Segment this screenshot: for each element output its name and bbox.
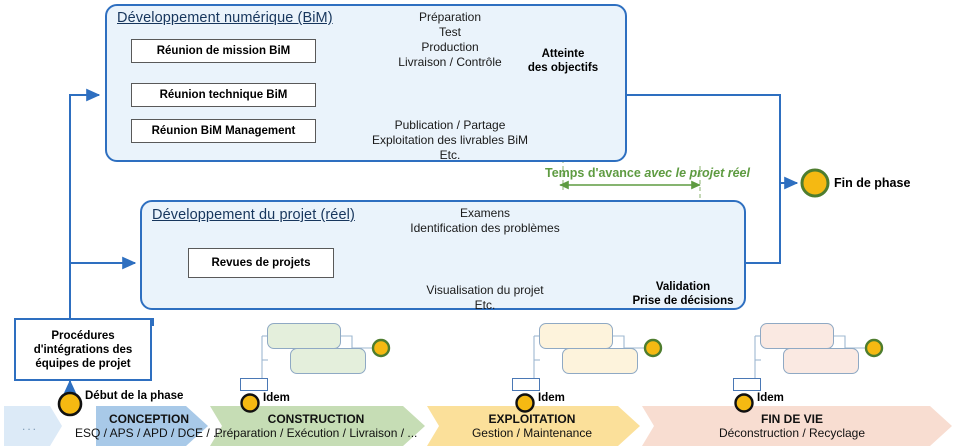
timeline-phase-3-subtitle: Gestion / Maintenance bbox=[472, 426, 592, 440]
timeline-phase-fin-de-vie[interactable]: FIN DE VIE Déconstruction / Recyclage bbox=[648, 406, 936, 446]
digital-above-line-1: Préparation bbox=[360, 10, 540, 25]
mini-2-start-box bbox=[512, 378, 540, 391]
real-below-line-1: Visualisation du projet bbox=[385, 283, 585, 298]
mini-3-box-top bbox=[760, 323, 834, 349]
timeline-phase-0-dots: ... bbox=[22, 419, 38, 433]
timeline-phase-3-title: EXPLOITATION bbox=[489, 412, 576, 426]
timeline-marker-label-1: Idem bbox=[263, 392, 290, 404]
real-below-text: Visualisation du projet Etc. bbox=[385, 283, 585, 313]
timeline-phase-0[interactable]: ... bbox=[4, 406, 56, 446]
procedures-line-2: d'intégrations des bbox=[34, 343, 133, 357]
timeline-phase-2-title: CONSTRUCTION bbox=[268, 412, 365, 426]
panel-digital-title: Développement numérique (BiM) bbox=[117, 10, 333, 26]
real-above-text: Examens Identification des problèmes bbox=[385, 206, 585, 236]
mini-2-box-top bbox=[539, 323, 613, 349]
advance-line-1: Temps d'avance bbox=[545, 166, 641, 180]
procedures-line-3: équipes de projet bbox=[34, 357, 133, 371]
digital-above-line-2: Test bbox=[360, 25, 540, 40]
fin-de-phase-label: Fin de phase bbox=[834, 176, 910, 190]
digital-below-line-1: Publication / Partage bbox=[360, 118, 540, 133]
project-review-box[interactable]: Revues de projets bbox=[188, 248, 334, 278]
panel-real-title: Développement du projet (réel) bbox=[152, 207, 355, 223]
digital-below-text: Publication / Partage Exploitation des l… bbox=[360, 118, 540, 163]
timeline-marker-label-2: Idem bbox=[538, 392, 565, 404]
digital-end-node-label: Atteinte des objectifs bbox=[513, 48, 613, 75]
mini-1-box-bottom bbox=[290, 348, 366, 374]
timeline-phase-1-title: CONCEPTION bbox=[109, 412, 189, 426]
advance-line-2: avec le projet réel bbox=[644, 166, 750, 180]
procedures-line-1: Procédures bbox=[34, 329, 133, 343]
real-above-line-2: Identification des problèmes bbox=[385, 221, 585, 236]
digital-below-line-2: Exploitation des livrables BiM bbox=[360, 133, 540, 148]
mini-1-start-box bbox=[240, 378, 268, 391]
mini-1-box-top bbox=[267, 323, 341, 349]
digital-below-line-3: Etc. bbox=[360, 148, 540, 163]
real-end-label-line-2: Prise de décisions bbox=[620, 295, 746, 309]
timeline-marker-label-3: Idem bbox=[757, 392, 784, 404]
timeline-phase-construction[interactable]: CONSTRUCTION Préparation / Exécution / L… bbox=[216, 406, 416, 446]
mini-3-start-box bbox=[733, 378, 761, 391]
timeline-phase-1-subtitle: ESQ / APS / APD / DCE / ... bbox=[75, 426, 223, 440]
meeting-box-mission[interactable]: Réunion de mission BiM bbox=[131, 39, 316, 63]
digital-end-label-line-1: Atteinte bbox=[513, 48, 613, 62]
digital-end-label-line-2: des objectifs bbox=[513, 62, 613, 76]
timeline-phase-2-subtitle: Préparation / Exécution / Livraison / ..… bbox=[215, 426, 418, 440]
timeline-phase-conception[interactable]: CONCEPTION ESQ / APS / APD / DCE / ... bbox=[96, 406, 202, 446]
advance-annotation: Temps d'avance avec le projet réel bbox=[545, 166, 715, 181]
real-above-line-1: Examens bbox=[385, 206, 585, 221]
diagram-canvas: Développement numérique (BiM) Réunion de… bbox=[0, 0, 960, 447]
meeting-box-technique[interactable]: Réunion technique BiM bbox=[131, 83, 316, 107]
procedures-box[interactable]: Procédures d'intégrations des équipes de… bbox=[14, 318, 152, 381]
fin-de-phase-node bbox=[802, 170, 828, 196]
timeline-phase-4-subtitle: Déconstruction / Recyclage bbox=[719, 426, 865, 440]
mini-3-box-bottom bbox=[783, 348, 859, 374]
mini-2-box-bottom bbox=[562, 348, 638, 374]
real-end-node-label: Validation Prise de décisions bbox=[620, 281, 746, 308]
timeline-phase-exploitation[interactable]: EXPLOITATION Gestion / Maintenance bbox=[433, 406, 631, 446]
real-below-line-2: Etc. bbox=[385, 298, 585, 313]
timeline-marker-label-0: Début de la phase bbox=[85, 390, 183, 402]
real-end-label-line-1: Validation bbox=[620, 281, 746, 295]
meeting-box-management[interactable]: Réunion BiM Management bbox=[131, 119, 316, 143]
timeline-phase-4-title: FIN DE VIE bbox=[761, 412, 823, 426]
